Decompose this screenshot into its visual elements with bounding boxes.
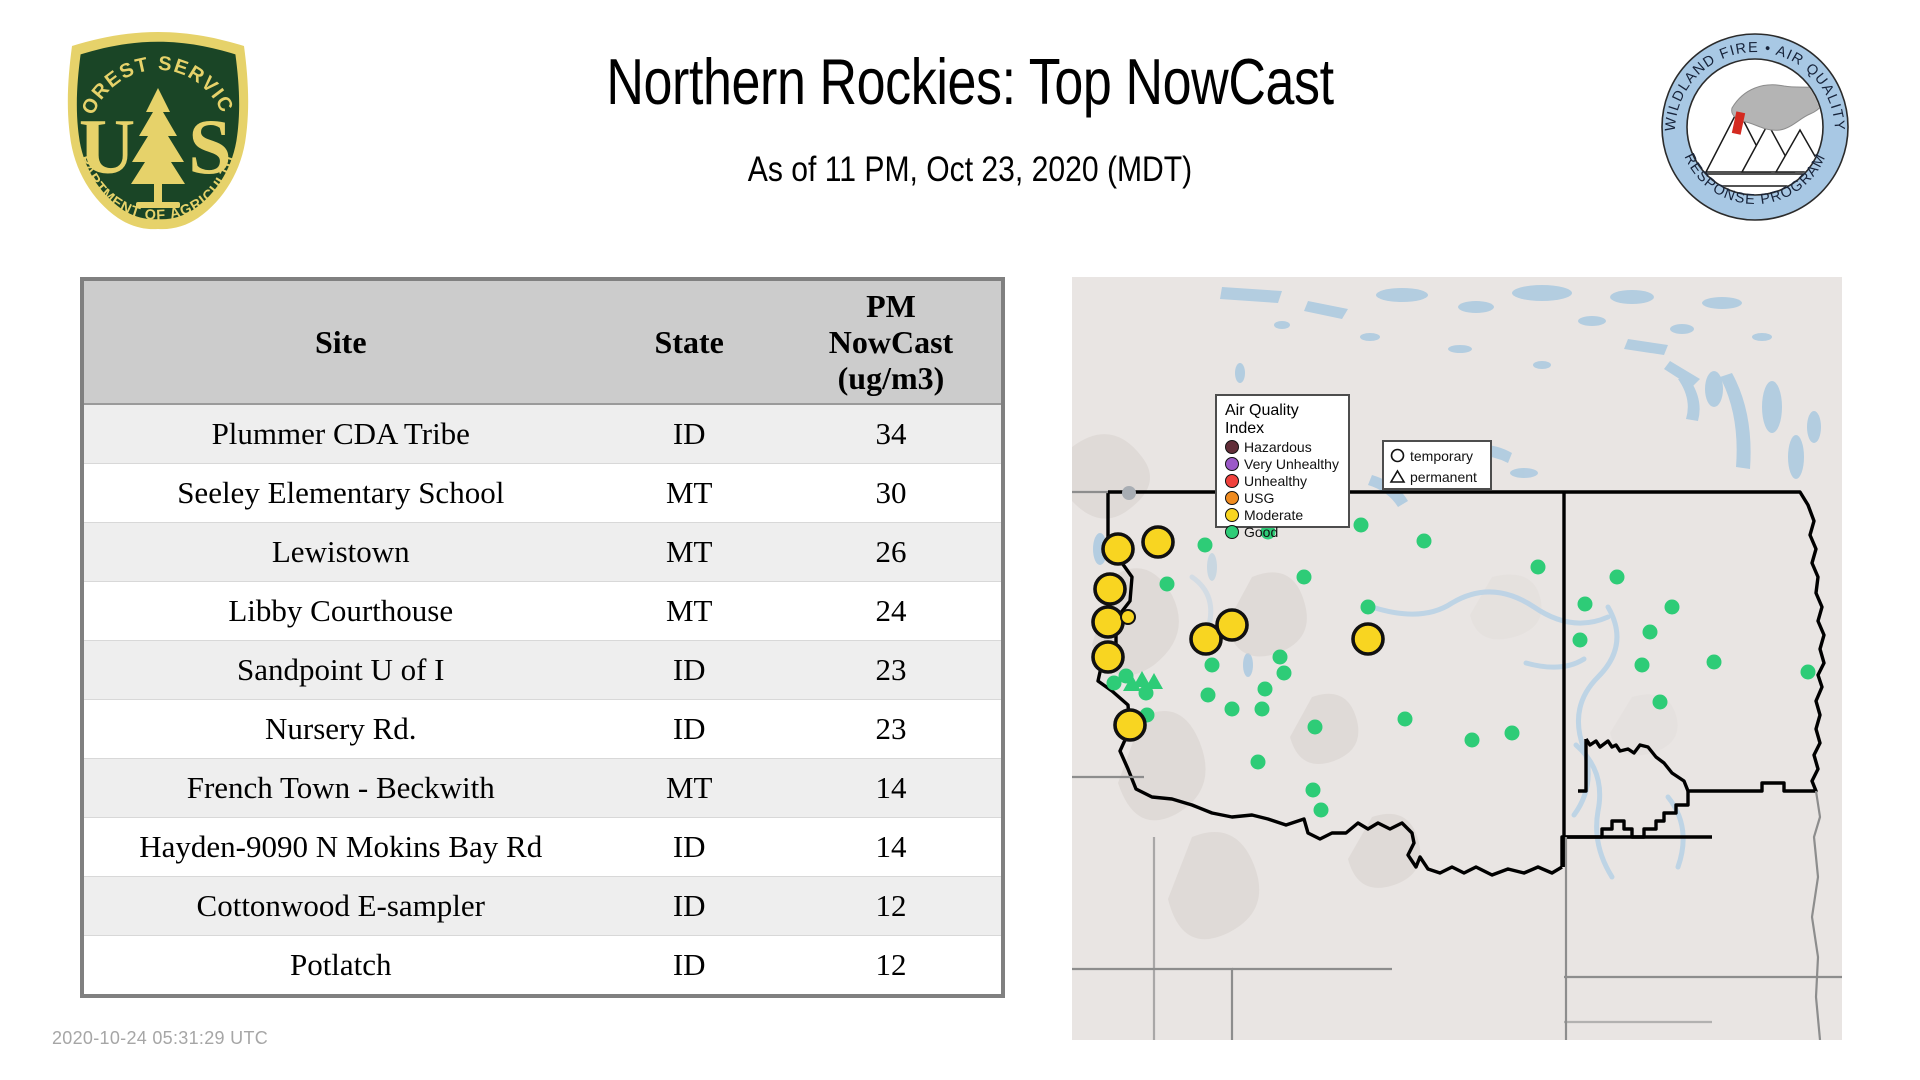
table-row: Seeley Elementary School MT 30 [84,464,1001,523]
cell-pm: 14 [781,759,1001,818]
wildland-fire-air-quality-logo: WILDLAND FIRE • AIR QUALITY RESPONSE PRO… [1660,32,1850,222]
legend-label: Very Unhealthy [1244,456,1339,472]
legend-label: permanent [1410,469,1477,485]
pm-header-line-1: PM [781,288,1001,324]
table-header-row: Site State PM NowCast (ug/m3) [84,281,1001,404]
legend-item-hazardous: Hazardous [1225,438,1340,455]
page-title: Northern Rockies: Top NowCast [458,48,1482,116]
aqi-color-swatch [1225,474,1239,488]
table-row: Hayden-9090 N Mokins Bay Rd ID 14 [84,818,1001,877]
cell-state: MT [598,759,781,818]
top-nowcast-table: Site State PM NowCast (ug/m3) Plummer CD… [84,281,1001,994]
top-nowcast-table-container: Site State PM NowCast (ug/m3) Plummer CD… [80,277,1005,998]
cell-site: Cottonwood E-sampler [84,877,598,936]
cell-pm: 34 [781,404,1001,464]
table-row: Plummer CDA Tribe ID 34 [84,404,1001,464]
site-type-legend: temporary permanent [1382,440,1492,490]
table-row: Lewistown MT 26 [84,523,1001,582]
cell-state: MT [598,582,781,641]
cell-site: Sandpoint U of I [84,641,598,700]
page-header: FOREST SERVICE U S DEPARTMENT OF AGRICUL… [0,0,1920,270]
generation-timestamp: 2020-10-24 05:31:29 UTC [52,1028,268,1049]
cell-site: Plummer CDA Tribe [84,404,598,464]
marker-no-data [1122,486,1136,500]
table-row: Potlatch ID 12 [84,936,1001,995]
aqi-color-swatch [1225,491,1239,505]
cell-site: Seeley Elementary School [84,464,598,523]
cell-pm: 23 [781,641,1001,700]
aqi-legend: Air Quality Index Hazardous Very Unhealt… [1215,394,1350,528]
table-row: Sandpoint U of I ID 23 [84,641,1001,700]
legend-item-moderate: Moderate [1225,506,1340,523]
table-row: French Town - Beckwith MT 14 [84,759,1001,818]
table-row: Cottonwood E-sampler ID 12 [84,877,1001,936]
aqi-color-swatch [1225,525,1239,539]
cell-pm: 26 [781,523,1001,582]
legend-item-permanent: permanent [1389,466,1485,487]
legend-label: Moderate [1244,507,1303,523]
legend-label: USG [1244,490,1274,506]
air-quality-monitor-map[interactable] [1072,277,1842,1040]
cell-state: ID [598,641,781,700]
legend-item-good: Good [1225,523,1340,540]
aqi-color-swatch [1225,440,1239,454]
legend-label: Unhealthy [1244,473,1307,489]
aqi-legend-title: Air Quality Index [1225,402,1340,438]
cell-site: Potlatch [84,936,598,995]
cell-site: Libby Courthouse [84,582,598,641]
cell-site: Lewistown [84,523,598,582]
cell-state: ID [598,700,781,759]
cell-pm: 12 [781,936,1001,995]
legend-label: Good [1244,524,1278,540]
column-header-site: Site [84,281,598,404]
us-forest-service-shield-logo: FOREST SERVICE U S DEPARTMENT OF AGRICUL… [58,28,258,233]
legend-item-very-unhealthy: Very Unhealthy [1225,455,1340,472]
aqi-color-swatch [1225,508,1239,522]
cell-site: French Town - Beckwith [84,759,598,818]
legend-item-unhealthy: Unhealthy [1225,472,1340,489]
table-row: Nursery Rd. ID 23 [84,700,1001,759]
cell-pm: 14 [781,818,1001,877]
cell-state: ID [598,404,781,464]
cell-state: ID [598,818,781,877]
page-subtitle: As of 11 PM, Oct 23, 2020 (MDT) [420,150,1521,190]
title-block: Northern Rockies: Top NowCast As of 11 P… [330,48,1610,190]
cell-state: MT [598,523,781,582]
table-row: Libby Courthouse MT 24 [84,582,1001,641]
cell-state: ID [598,877,781,936]
cell-state: ID [598,936,781,995]
cell-pm: 24 [781,582,1001,641]
column-header-pm-nowcast: PM NowCast (ug/m3) [781,281,1001,404]
cell-pm: 30 [781,464,1001,523]
table-body: Plummer CDA Tribe ID 34 Seeley Elementar… [84,404,1001,994]
cell-pm: 23 [781,700,1001,759]
cell-site: Nursery Rd. [84,700,598,759]
legend-item-temporary: temporary [1389,445,1485,466]
cell-site: Hayden-9090 N Mokins Bay Rd [84,818,598,877]
marker-moderate-small [1121,610,1135,624]
pm-header-line-3: (ug/m3) [781,360,1001,396]
aqi-color-swatch [1225,457,1239,471]
triangle-icon [1389,468,1406,485]
cell-state: MT [598,464,781,523]
circle-icon [1389,447,1406,464]
legend-label: temporary [1410,448,1473,464]
pm-header-line-2: NowCast [781,324,1001,360]
legend-item-usg: USG [1225,489,1340,506]
legend-label: Hazardous [1244,439,1312,455]
cell-pm: 12 [781,877,1001,936]
column-header-state: State [598,281,781,404]
